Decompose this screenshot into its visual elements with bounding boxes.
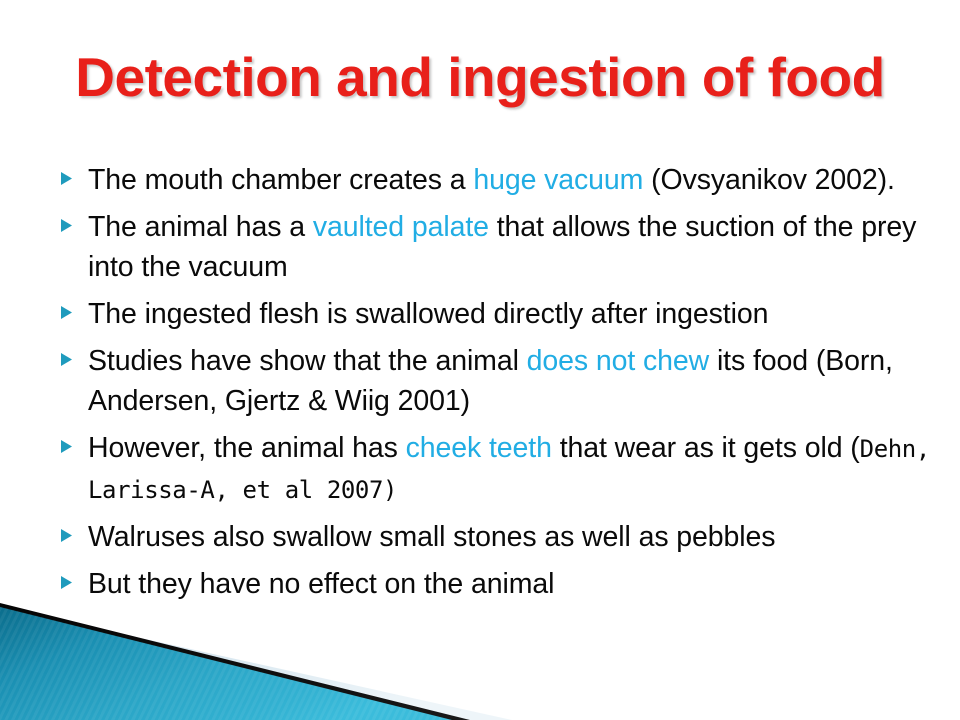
- triangle-bullet-icon: [60, 564, 88, 590]
- bullet-text: The animal has a vaulted palate that all…: [88, 207, 930, 287]
- text-run: The mouth chamber creates a: [88, 164, 473, 196]
- bullet-item-swallowed-directly: The ingested flesh is swallowed directly…: [60, 294, 930, 334]
- triangle-bullet-icon: [60, 428, 88, 454]
- slide: Detection and ingestion of food The mout…: [0, 0, 960, 720]
- text-run: Studies have show that the animal: [88, 345, 527, 377]
- bullet-item-cheek-teeth: However, the animal has cheek teeth that…: [60, 428, 930, 510]
- bullet-text: The ingested flesh is swallowed directly…: [88, 294, 930, 334]
- triangle-bullet-icon: [60, 517, 88, 543]
- text-run-highlight: huge vacuum: [473, 164, 643, 196]
- bullet-text: The mouth chamber creates a huge vacuum …: [88, 160, 930, 200]
- text-run: However, the animal has: [88, 432, 406, 464]
- deco-black-stripe: [0, 603, 470, 720]
- text-run: (Ovsyanikov 2002).: [643, 164, 895, 196]
- text-run: that wear as it gets old (: [552, 432, 860, 464]
- text-run: But they have no effect on the animal: [88, 568, 554, 600]
- triangle-bullet-icon: [60, 341, 88, 367]
- deco-pale-band: [0, 607, 512, 720]
- deco-teal-wedge: [0, 607, 452, 720]
- text-run-highlight: does not chew: [527, 345, 710, 377]
- bullet-list: The mouth chamber creates a huge vacuum …: [60, 160, 930, 611]
- text-run: The ingested flesh is swallowed directly…: [88, 298, 768, 330]
- bullet-item-small-stones: Walruses also swallow small stones as we…: [60, 517, 930, 557]
- bullet-text: Studies have show that the animal does n…: [88, 341, 930, 421]
- text-run-highlight: vaulted palate: [313, 211, 489, 243]
- triangle-bullet-icon: [60, 160, 88, 186]
- triangle-bullet-icon: [60, 294, 88, 320]
- bullet-item-mouth-chamber: The mouth chamber creates a huge vacuum …: [60, 160, 930, 200]
- bullet-text: However, the animal has cheek teeth that…: [88, 428, 930, 510]
- text-run: Walruses also swallow small stones as we…: [88, 521, 775, 553]
- text-run: The animal has a: [88, 211, 313, 243]
- deco-pale-band-fill: [0, 613, 505, 720]
- title-area: Detection and ingestion of food: [0, 38, 960, 116]
- bullet-item-no-effect: But they have no effect on the animal: [60, 564, 930, 604]
- triangle-bullet-icon: [60, 207, 88, 233]
- bullet-text: Walruses also swallow small stones as we…: [88, 517, 930, 557]
- bullet-text: But they have no effect on the animal: [88, 564, 930, 604]
- text-run-highlight: cheek teeth: [406, 432, 552, 464]
- bullet-item-vaulted-palate: The animal has a vaulted palate that all…: [60, 207, 930, 287]
- page-title: Detection and ingestion of food: [75, 45, 884, 109]
- bullet-item-does-not-chew: Studies have show that the animal does n…: [60, 341, 930, 421]
